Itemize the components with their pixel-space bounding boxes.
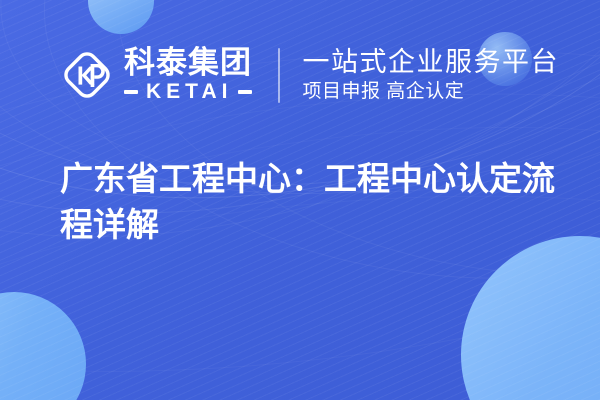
brand-wordmark: 科泰集团 KETAI xyxy=(124,48,252,102)
ketai-diamond-monogram-icon xyxy=(60,48,114,102)
page-title: 广东省工程中心：工程中心认定流程详解 xyxy=(60,156,560,248)
banner-header: 科泰集团 KETAI 一站式企业服务平台 项目申报 高企认定 xyxy=(0,0,600,150)
brand-name-en: KETAI xyxy=(138,81,238,102)
slogan-block: 一站式企业服务平台 项目申报 高企认定 xyxy=(302,47,559,103)
brand-name-en-row: KETAI xyxy=(124,81,252,102)
vertical-divider xyxy=(278,48,280,103)
promo-banner: 科泰集团 KETAI 一站式企业服务平台 项目申报 高企认定 广东省工程中心：工… xyxy=(0,0,600,400)
dash-left-icon xyxy=(124,90,138,94)
dash-right-icon xyxy=(238,90,252,94)
slogan-sub-text: 项目申报 高企认定 xyxy=(302,81,559,103)
brand-lockup: 科泰集团 KETAI xyxy=(60,48,252,102)
slogan-main-text: 一站式企业服务平台 xyxy=(302,47,559,77)
brand-name-cn: 科泰集团 xyxy=(124,48,252,78)
